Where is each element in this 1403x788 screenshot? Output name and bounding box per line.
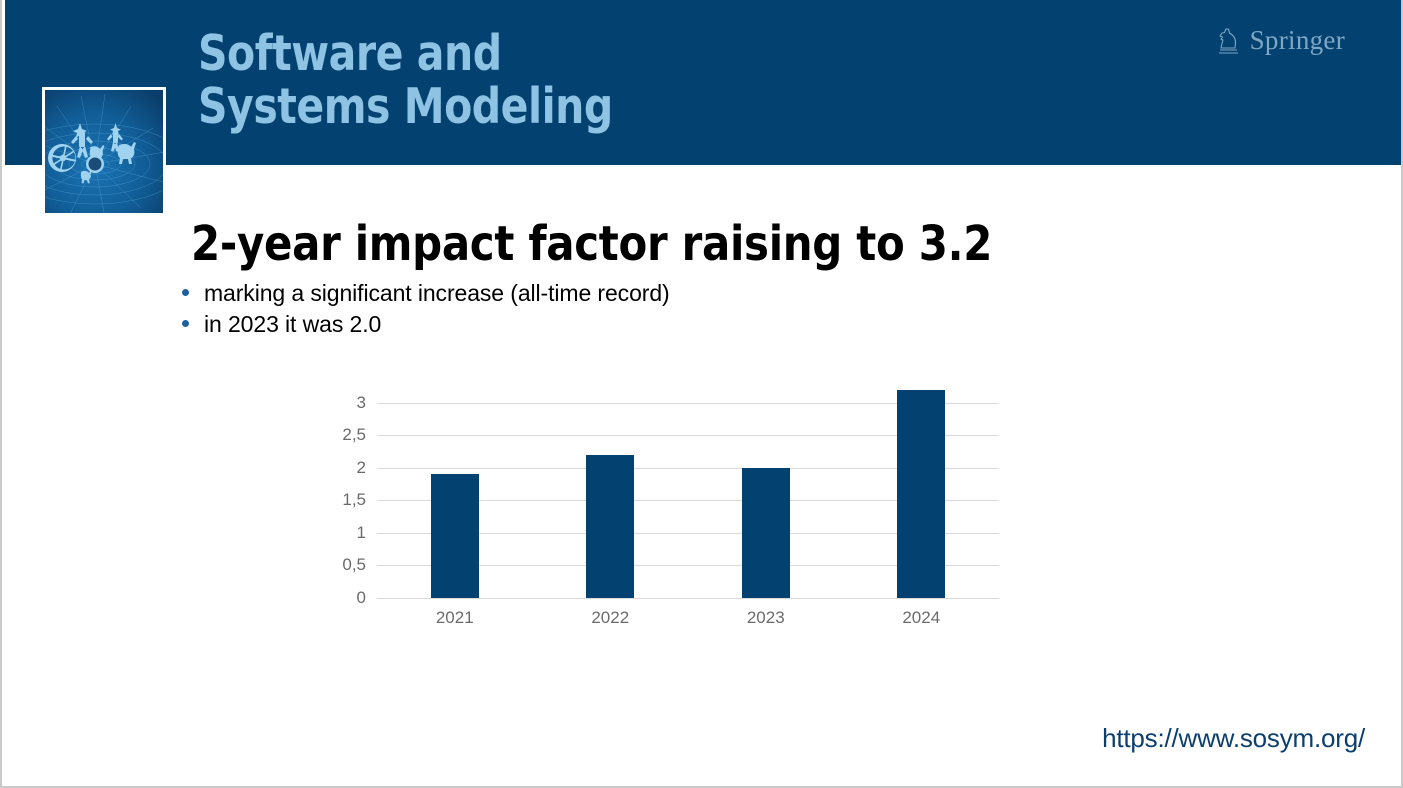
chart-y-tick-label: 1,5 [342,490,366,510]
journal-cover-art [45,90,163,213]
bullet-text: in 2023 it was 2.0 [204,309,381,340]
journal-title: Software and Systems Modeling [198,27,613,133]
bullet-dot-icon [182,320,189,327]
chart-y-tick-label: 1 [357,523,366,543]
chart-y-tick-label: 3 [357,393,366,413]
header-banner: Software and Systems Modeling Springer [5,0,1403,165]
chart-y-tick-label: 2 [357,458,366,478]
chart-plot-area: 00,511,522,532021202220232024 [377,380,999,598]
page-title: 2-year impact factor raising to 3.2 [191,215,992,273]
springer-wordmark: Springer [1250,25,1345,56]
knight-icon [1217,26,1243,56]
chart-bar [586,455,634,598]
chart-x-tick-label: 2024 [902,608,940,628]
presentation-slide: Software and Systems Modeling Springer [0,0,1403,788]
chart-bar [431,474,479,598]
springer-logo: Springer [1217,25,1345,56]
impact-factor-bar-chart: 00,511,522,532021202220232024 [332,360,1012,640]
chart-gridline: 0 [377,598,999,599]
chart-x-tick-label: 2021 [436,608,474,628]
bullet-text: marking a significant increase (all-time… [204,278,670,309]
journal-cover-thumbnail [42,87,166,216]
chart-y-tick-label: 0,5 [342,555,366,575]
chart-y-tick-label: 2,5 [342,425,366,445]
journal-website-url[interactable]: https://www.sosym.org/ [1102,723,1365,754]
chart-y-tick-label: 0 [357,588,366,608]
bullet-dot-icon [182,289,189,296]
chart-x-tick-label: 2023 [747,608,785,628]
list-item: marking a significant increase (all-time… [182,278,670,309]
chart-x-tick-label: 2022 [591,608,629,628]
list-item: in 2023 it was 2.0 [182,309,670,340]
bullet-list: marking a significant increase (all-time… [182,278,670,340]
chart-bar [897,390,945,598]
chart-bar [742,468,790,598]
